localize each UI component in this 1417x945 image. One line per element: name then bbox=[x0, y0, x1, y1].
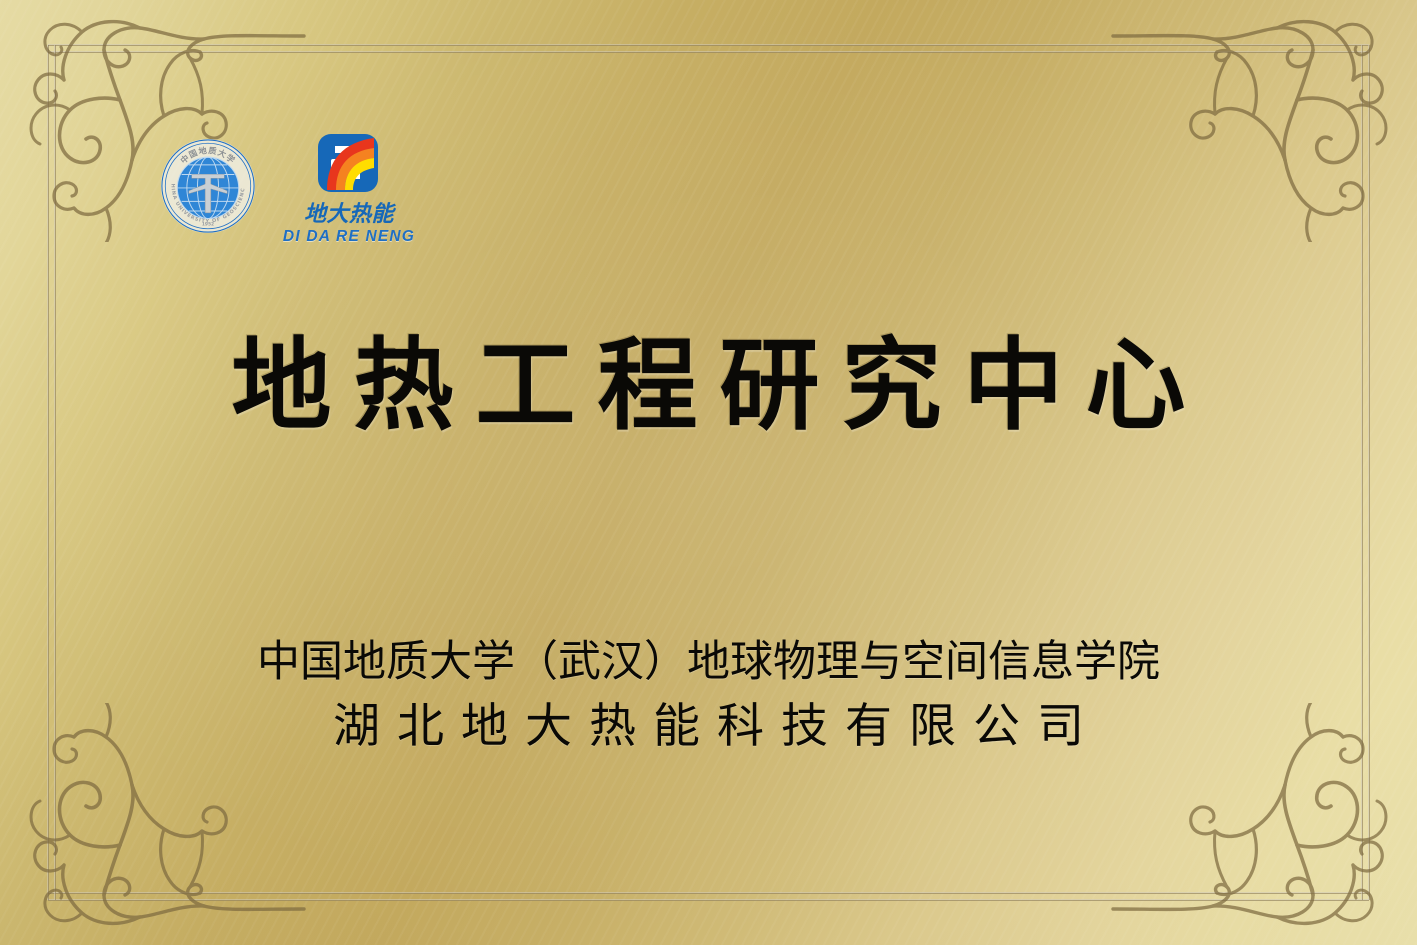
svg-text:1952: 1952 bbox=[202, 221, 214, 227]
frame-rule-left bbox=[47, 45, 56, 900]
company-name-en: DI DA RE NENG bbox=[283, 229, 415, 245]
frame-rule-right bbox=[1361, 45, 1370, 900]
university-seal-icon: 中国地质大学 CHINA UNIVERSITY OF GEOSCIENCES 1… bbox=[160, 138, 256, 239]
organization-line-2: 湖北地大热能科技有限公司 bbox=[0, 696, 1417, 757]
frame-rule-top bbox=[48, 44, 1369, 53]
company-name-cn: 地大热能 bbox=[274, 199, 424, 227]
organization-line-1: 中国地质大学（武汉）地球物理与空间信息学院 bbox=[0, 636, 1417, 688]
award-plaque: 中国地质大学 CHINA UNIVERSITY OF GEOSCIENCES 1… bbox=[0, 0, 1417, 945]
logo-row: 中国地质大学 CHINA UNIVERSITY OF GEOSCIENCES 1… bbox=[160, 132, 424, 245]
company-logo: 地大热能 DI DA RE NENG bbox=[274, 132, 424, 245]
corner-flourish-icon bbox=[1109, 0, 1409, 242]
svg-text:地大热能: 地大热能 bbox=[304, 201, 397, 227]
organization-block: 中国地质大学（武汉）地球物理与空间信息学院 湖北地大热能科技有限公司 bbox=[0, 636, 1417, 758]
page-title: 地热工程研究中心 bbox=[0, 330, 1417, 442]
frame-rule-bottom bbox=[48, 892, 1369, 901]
didareneng-mark-icon bbox=[314, 132, 384, 198]
